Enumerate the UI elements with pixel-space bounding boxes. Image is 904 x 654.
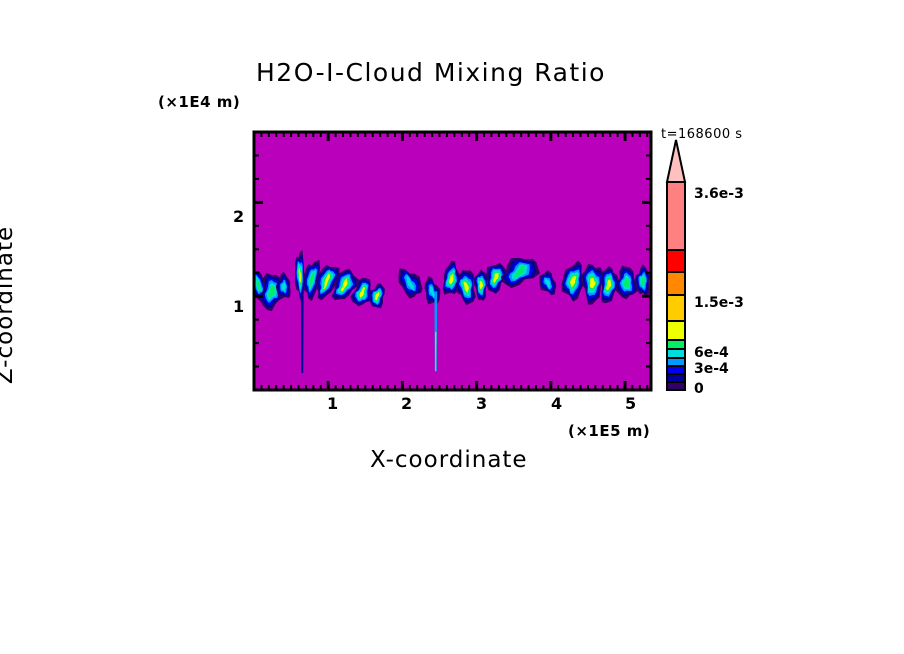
colorbar-label-3: 3e-4 [694, 361, 729, 377]
y-axis-unit-label: (×1E4 m) [158, 93, 240, 111]
contour-band [459, 276, 472, 298]
contour-band [486, 263, 508, 294]
contour-band [370, 284, 385, 307]
y-axis-title: Z-coordinate [0, 185, 18, 425]
contour-band [506, 260, 533, 283]
contour-band [458, 274, 473, 300]
contour-band [636, 267, 649, 294]
axis-ticks [254, 132, 651, 390]
contour-band [640, 275, 646, 289]
contour-band [375, 292, 379, 301]
contour-band [569, 274, 578, 290]
contour-band [309, 272, 314, 287]
contour-band [406, 276, 414, 289]
contour-band [461, 278, 472, 297]
colorbar-label-2: 6e-4 [694, 345, 729, 361]
contour-band [602, 269, 619, 301]
contour-band [297, 263, 302, 290]
y-tick-label-1: 1 [233, 297, 244, 316]
contour-band [477, 276, 486, 296]
contour-band [251, 271, 267, 302]
colorbar-label-0: 3.6e-3 [694, 186, 744, 202]
contour-band [350, 278, 372, 307]
contour-band [462, 280, 470, 295]
colorbar-segment [667, 340, 685, 349]
contour-band [641, 277, 645, 286]
contour-band [295, 250, 305, 303]
contour-band [638, 272, 647, 290]
contour-band [493, 273, 499, 283]
precip-streak-core [435, 332, 436, 371]
contour-band [279, 277, 288, 296]
x-axis-title: X-coordinate [370, 447, 528, 473]
contour-band [463, 282, 469, 293]
contour-band [402, 272, 418, 293]
x-tick-label-5: 5 [625, 394, 636, 413]
contour-band [622, 275, 631, 290]
contour-band [475, 272, 488, 300]
contour-band [618, 270, 634, 294]
contour-band [478, 278, 485, 294]
contour-band [589, 275, 597, 290]
contour-band [512, 264, 528, 280]
contour-band [352, 279, 371, 305]
contour-band [400, 270, 420, 296]
contour-band [563, 264, 582, 300]
contour-band [490, 268, 503, 288]
contour-band [586, 270, 600, 296]
contour-band [332, 269, 359, 301]
contour-band [302, 260, 320, 301]
contour-band [320, 269, 336, 294]
contour-band [446, 270, 456, 288]
contour-band [623, 278, 629, 288]
contour-band [583, 266, 602, 302]
page-title: H2O-I-Cloud Mixing Ratio [256, 58, 606, 87]
contour-band [260, 273, 284, 311]
colorbar-segment [667, 272, 685, 295]
contour-band [318, 268, 337, 296]
contour-band [447, 272, 454, 286]
colorbar-segment [667, 349, 685, 358]
x-tick-label-2: 2 [401, 394, 412, 413]
contour-band [357, 284, 368, 300]
contour-band [299, 268, 302, 283]
contour-band [455, 270, 476, 305]
x-tick-label-4: 4 [551, 394, 562, 413]
contour-band [355, 283, 368, 302]
contour-band [637, 270, 647, 293]
contour-band [562, 260, 584, 301]
contour-band [374, 291, 380, 302]
contour-band [262, 275, 283, 308]
contour-band [276, 272, 291, 300]
x-tick-label-1: 1 [327, 394, 338, 413]
colorbar-overflow-arrow [667, 140, 685, 182]
colorbar-segment [667, 295, 685, 321]
contour-band [371, 286, 384, 306]
precip-streak [434, 291, 437, 371]
plot-background [254, 132, 651, 390]
x-tick-label-3: 3 [476, 394, 487, 413]
contour-plot [0, 0, 904, 654]
figure-canvas: H2O-I-Cloud Mixing Ratio (×1E4 m) (×1E5 … [0, 0, 904, 654]
contour-band [280, 280, 287, 294]
y-tick-label-2: 2 [233, 207, 244, 226]
colorbar-segment [667, 182, 685, 250]
contour-band [635, 264, 650, 295]
contour-band [334, 272, 355, 296]
contour-band [404, 274, 416, 291]
contour-band [268, 285, 275, 297]
contour-band [360, 287, 366, 298]
contour-band [304, 263, 320, 298]
contour-band [427, 282, 438, 301]
contour-band [307, 268, 318, 293]
colorbar-segment [667, 382, 685, 390]
contour-band [358, 286, 366, 299]
contour-band [267, 282, 277, 300]
contour-band [542, 275, 554, 292]
x-axis-unit-label: (×1E5 m) [568, 422, 650, 440]
contour-band [587, 273, 598, 293]
contour-band [541, 273, 555, 294]
contour-band [322, 273, 332, 291]
contour-band [604, 275, 614, 294]
contour-band [617, 268, 636, 296]
contour-band [426, 279, 439, 302]
colorbar-segment [667, 374, 685, 382]
contour-band [339, 277, 349, 292]
contour-band [479, 281, 483, 290]
contour-band [398, 268, 422, 298]
colorbar [667, 140, 685, 390]
contour-band [296, 254, 305, 300]
contour-band [263, 278, 281, 306]
contour-band [308, 271, 316, 290]
contour-band [296, 258, 304, 297]
contour-band [564, 267, 581, 297]
contour-band [476, 274, 487, 297]
contour-band [317, 267, 339, 298]
contour-band [297, 262, 303, 294]
contour-band [584, 268, 601, 300]
contour-band [620, 273, 632, 292]
contour-band [341, 278, 348, 291]
contour-band [449, 274, 454, 284]
contour-band [492, 271, 500, 284]
plot-frame [254, 132, 651, 390]
contour-band [252, 272, 266, 299]
contour-band [545, 278, 550, 288]
contour-band [501, 258, 540, 288]
colorbar-label-4: 0 [694, 381, 704, 397]
contour-band [315, 265, 340, 301]
contour-band [515, 266, 526, 279]
contour-band [600, 266, 619, 303]
colorbar-label-1: 1.5e-3 [694, 295, 744, 311]
contour-band [265, 280, 279, 303]
contour-band [606, 280, 611, 291]
precip-streak [301, 296, 304, 373]
contour-band [488, 265, 507, 292]
contour-band [456, 272, 474, 303]
contour-band [543, 277, 552, 290]
contour-band [254, 273, 265, 296]
contour-band [570, 276, 576, 287]
contour-band [479, 279, 484, 291]
colorbar-segment [667, 250, 685, 272]
contour-band [605, 278, 612, 293]
contour-band [321, 271, 334, 292]
colorbar-segment [667, 321, 685, 340]
contour-band [509, 262, 530, 281]
colorbar-segment [667, 358, 685, 366]
contour-band [429, 284, 437, 299]
contour-band [353, 281, 369, 303]
contour-band [277, 274, 289, 297]
contour-band [503, 259, 537, 286]
contour-band [323, 274, 330, 290]
contour-band [255, 275, 264, 294]
contour-band [474, 269, 488, 300]
contour-band [255, 277, 262, 292]
contour-band [489, 267, 505, 290]
contour-band [567, 272, 579, 292]
contour-band [373, 290, 381, 304]
contour-band [424, 276, 440, 304]
contour-band [603, 273, 615, 297]
colorbar-segment [667, 366, 685, 374]
contour-band [581, 264, 603, 305]
contour-band [372, 288, 382, 305]
contour-band [539, 270, 556, 295]
contour-band [443, 261, 462, 295]
contour-band [333, 270, 357, 298]
contour-band [298, 265, 302, 286]
contour-band [616, 266, 638, 300]
contour-band [602, 271, 616, 299]
contour-band [444, 265, 458, 292]
contour-band [305, 265, 318, 295]
contour-band [368, 283, 385, 308]
contour-band [430, 286, 435, 297]
contour-band [445, 267, 457, 290]
contour-band [337, 276, 351, 294]
contour-band [590, 278, 596, 288]
time-annotation: t=168600 s [661, 127, 743, 142]
contour-band [443, 263, 460, 293]
contour-band [336, 274, 353, 295]
cloud-field [251, 250, 650, 373]
contour-band [281, 282, 286, 291]
contour-band [256, 279, 260, 291]
contour-band [565, 269, 580, 294]
contour-band [491, 270, 502, 286]
